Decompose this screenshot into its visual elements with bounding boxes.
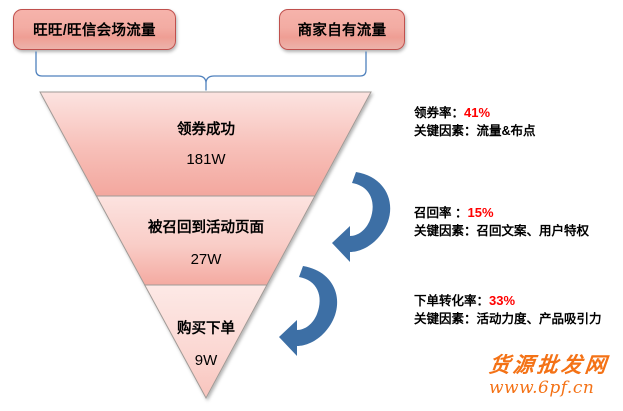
annotation-stage-3-factor-value: 活动力度、产品吸引力 xyxy=(477,312,602,326)
annotation-stage-3-factor-label: 关键因素： xyxy=(414,312,477,326)
annotation-stage-2-factor-value: 召回文案、用户特权 xyxy=(477,224,590,238)
annotation-stage-1-rate-label: 领券率： xyxy=(414,106,464,120)
annotation-stage-3-rate-value: 33% xyxy=(489,293,515,308)
transition-arrow-2 xyxy=(279,266,337,356)
funnel-stage-1-value: 181W xyxy=(0,151,412,168)
annotation-stage-1-rate: 领券率：41% xyxy=(414,104,536,122)
funnel-section-2 xyxy=(96,196,315,285)
funnel-stage-2-value: 27W xyxy=(0,251,412,268)
annotation-stage-3-rate: 下单转化率：33% xyxy=(414,292,602,310)
watermark: 货源批发网 www.6pf.cn xyxy=(489,352,609,399)
funnel-stage-3-title: 购买下单 xyxy=(0,317,412,338)
annotation-stage-1-factor: 关键因素：流量&布点 xyxy=(414,122,536,140)
funnel-stage-3-value: 9W xyxy=(0,352,412,369)
annotation-stage-2-factor-label: 关键因素： xyxy=(414,224,477,238)
funnel-diagram-canvas: 旺旺/旺信会场流量 商家自有流量 xyxy=(0,0,623,411)
annotation-stage-2-factor: 关键因素：召回文案、用户特权 xyxy=(414,222,589,240)
funnel-section-3 xyxy=(145,285,267,398)
funnel-stage-2-title: 被召回到活动页面 xyxy=(0,216,412,237)
annotation-stage-1-factor-value: 流量&布点 xyxy=(477,124,536,138)
annotation-stage-1-factor-label: 关键因素： xyxy=(414,124,477,138)
watermark-brand: 货源批发网 xyxy=(488,352,611,377)
funnel-section-1 xyxy=(40,92,371,196)
annotation-stage-1: 领券率：41% 关键因素：流量&布点 xyxy=(414,104,536,140)
annotation-stage-2-rate-label: 召回率 ： xyxy=(414,206,467,220)
annotation-stage-2: 召回率 ：15% 关键因素：召回文案、用户特权 xyxy=(414,204,589,240)
annotation-stage-3-factor: 关键因素：活动力度、产品吸引力 xyxy=(414,310,602,328)
annotation-stage-1-rate-value: 41% xyxy=(464,105,490,120)
watermark-url: www.6pf.cn xyxy=(489,377,609,399)
annotation-stage-3-rate-label: 下单转化率： xyxy=(414,294,489,308)
annotation-stage-2-rate-value: 15% xyxy=(467,205,493,220)
annotation-stage-2-rate: 召回率 ：15% xyxy=(414,204,589,222)
funnel-stage-1-title: 领券成功 xyxy=(0,118,412,139)
annotation-stage-3: 下单转化率：33% 关键因素：活动力度、产品吸引力 xyxy=(414,292,602,328)
